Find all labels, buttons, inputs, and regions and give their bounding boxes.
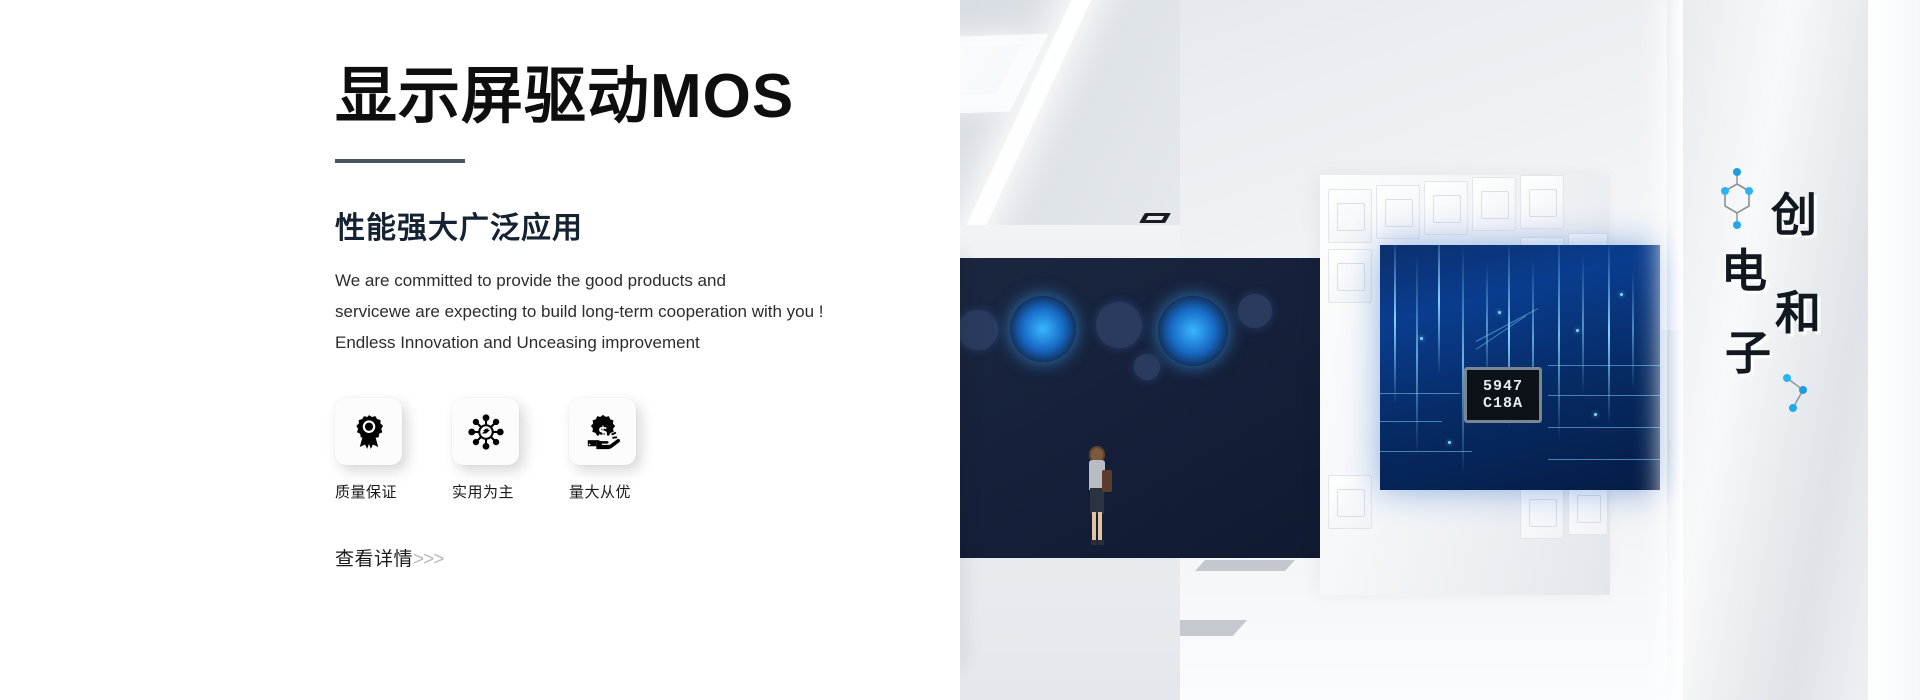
product-cell — [1328, 249, 1372, 303]
description-line: Endless Innovation and Unceasing improve… — [335, 327, 895, 358]
view-details-arrows: >>> — [413, 549, 443, 570]
exhibition-wall — [930, 258, 1350, 558]
description-line: We are committed to provide the good pro… — [335, 265, 895, 296]
floor-tile — [1195, 560, 1295, 571]
molecule-icon — [1779, 370, 1819, 416]
product-cell — [1424, 181, 1468, 235]
product-cell — [1472, 177, 1516, 231]
feature-icon-card[interactable] — [335, 398, 402, 465]
exhibit-photo-circle — [958, 310, 998, 350]
exhibit-chip-graphic — [1158, 296, 1228, 366]
page-subtitle: 性能强大广泛应用 — [335, 203, 895, 247]
brand-sign-char: 子 — [1725, 330, 1771, 376]
feature-item-practical[interactable]: 实用为主 — [452, 398, 544, 502]
chip-graphic: 5947 C18A — [1464, 367, 1542, 423]
exhibit-photo-circle — [1096, 302, 1142, 348]
view-details-link[interactable]: 查看详情>>> — [335, 544, 443, 571]
svg-text:$: $ — [598, 424, 608, 440]
description-block: We are committed to provide the good pro… — [335, 265, 895, 358]
chip-code-line1: 5947 — [1483, 378, 1523, 395]
exhibit-photo-circle — [1134, 354, 1160, 380]
product-cell — [1520, 485, 1564, 539]
molecule-icon — [1715, 168, 1759, 238]
brand-sign-char: 创 — [1771, 192, 1817, 238]
feature-list: 质量保证 — [335, 398, 895, 502]
brand-sign-wall: 创 和 电 子 — [1683, 0, 1868, 700]
wall-light-glow — [1667, 0, 1683, 700]
award-ribbon-icon — [350, 413, 388, 451]
brand-sign-char: 电 — [1721, 248, 1767, 294]
product-cell — [1328, 189, 1372, 243]
exhibit-chip-graphic — [1010, 296, 1076, 362]
brand-sign-char: 和 — [1775, 290, 1821, 336]
view-details-label: 查看详情 — [335, 549, 413, 570]
page-title: 显示屏驱动MOS — [335, 62, 895, 131]
network-hub-icon — [467, 413, 505, 451]
wall-edge — [1868, 0, 1920, 700]
product-cell — [1520, 175, 1564, 229]
hand-money-icon: $ — [584, 413, 622, 451]
hero-banner: 5947 C18A 创 和 — [0, 0, 1920, 700]
feature-label: 量大从优 — [569, 481, 661, 502]
feature-icon-card[interactable]: $ — [569, 398, 636, 465]
led-screen: 5947 C18A — [1380, 245, 1660, 490]
description-line: servicewe are expecting to build long-te… — [335, 296, 895, 327]
feature-icon-card[interactable] — [452, 398, 519, 465]
title-divider — [335, 159, 465, 163]
text-panel: 显示屏驱动MOS 性能强大广泛应用 We are committed to pr… — [0, 0, 960, 700]
chip-code-line2: C18A — [1483, 395, 1523, 412]
feature-label: 实用为主 — [452, 481, 544, 502]
product-cell — [1376, 185, 1420, 239]
exhibit-photo-circle — [1238, 294, 1272, 328]
product-cell — [1328, 475, 1372, 529]
feature-item-bulk[interactable]: $ 量大从优 — [569, 398, 661, 502]
feature-label: 质量保证 — [335, 481, 427, 502]
visitor-woman — [1086, 448, 1108, 552]
feature-item-quality[interactable]: 质量保证 — [335, 398, 427, 502]
